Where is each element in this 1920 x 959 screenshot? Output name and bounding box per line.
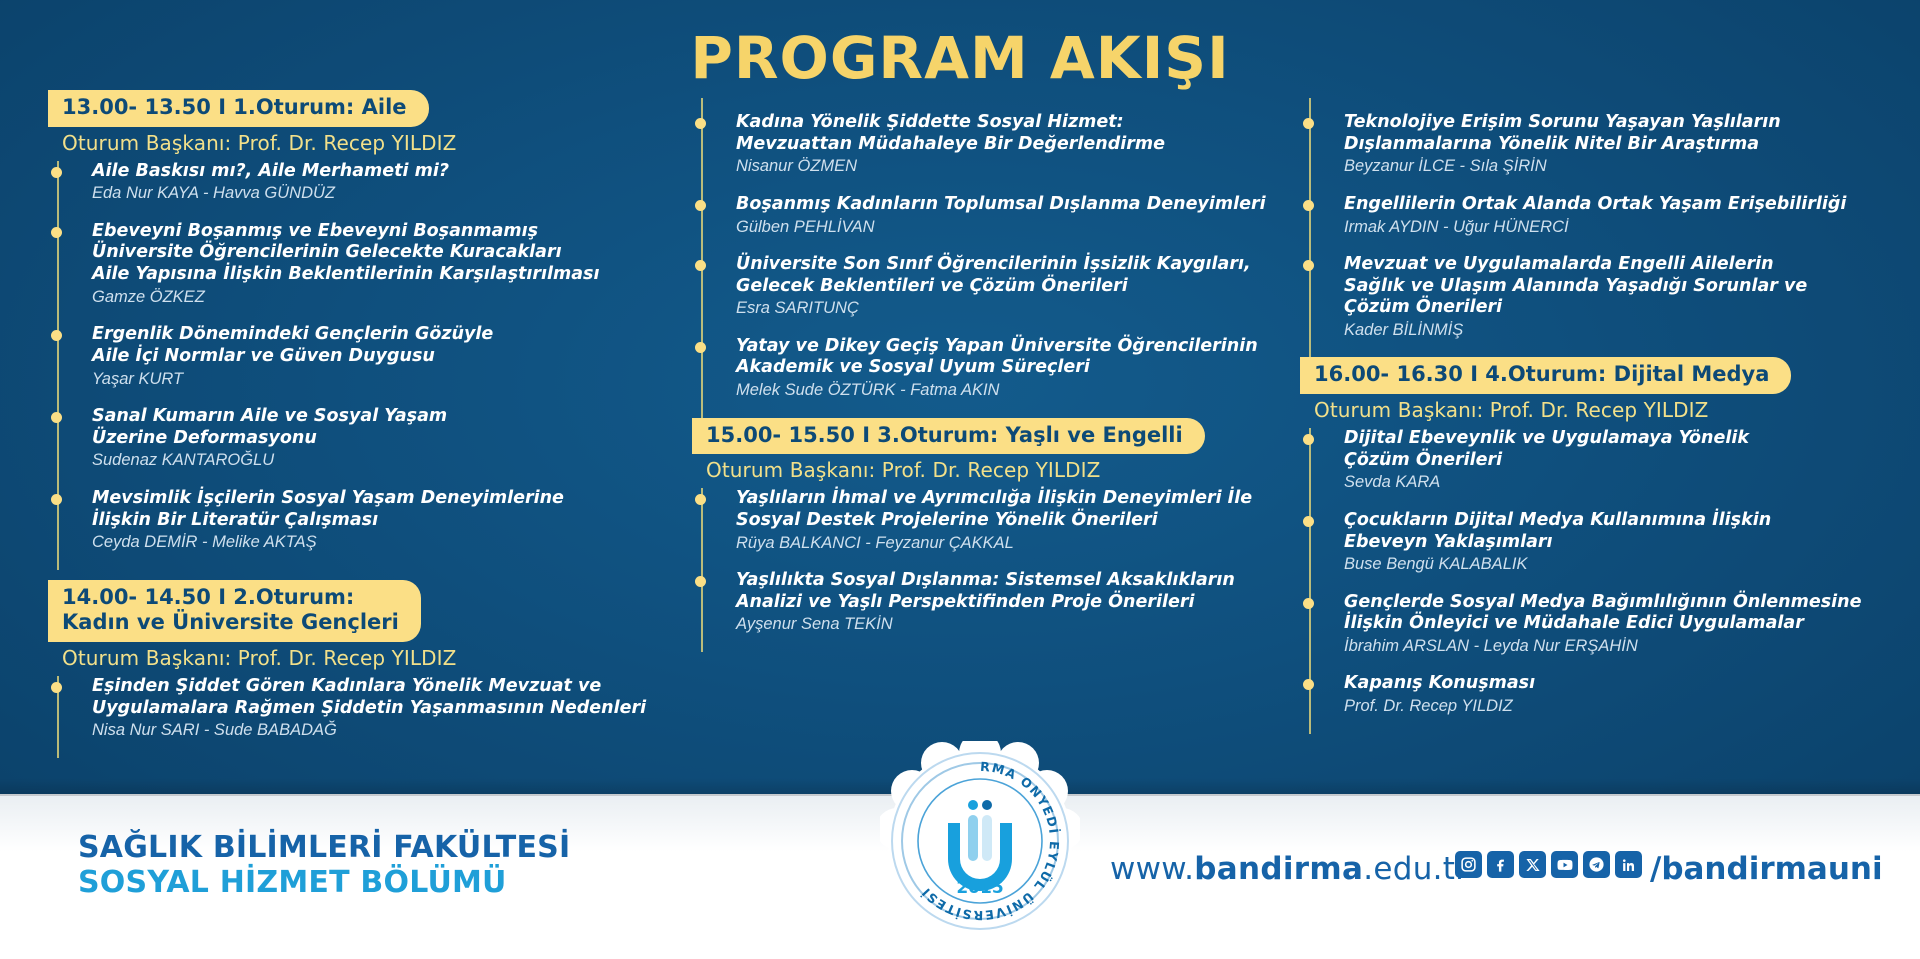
item-title: Yatay ve Dikey Geçiş Yapan Üniversite Öğ… bbox=[736, 336, 1280, 379]
session-chair: Oturum Başkanı: Prof. Dr. Recep YILDIZ bbox=[692, 454, 1280, 484]
session-block: 16.00- 16.30 I 4.Oturum: Dijital Medya O… bbox=[1300, 357, 1920, 424]
item-authors: Prof. Dr. Recep YILDIZ bbox=[1344, 696, 1920, 717]
bullet-dot-icon bbox=[1303, 260, 1314, 271]
bullet-dot-icon bbox=[1303, 118, 1314, 129]
bullet-dot-icon bbox=[695, 342, 706, 353]
item-title: Üniversite Son Sınıf Öğrencilerinin İşsi… bbox=[736, 254, 1280, 297]
item-title: Ebeveyni Boşanmış ve Ebeveyni Boşanmamış… bbox=[92, 221, 680, 286]
social-handle[interactable]: /bandirmauni bbox=[1650, 851, 1883, 887]
program-item: Aile Baskısı mı?, Aile Merhameti mi? Eda… bbox=[76, 161, 680, 221]
item-authors: Yaşar KURT bbox=[92, 369, 680, 390]
item-authors: Eda Nur KAYA - Havva GÜNDÜZ bbox=[92, 183, 680, 204]
item-authors: Gamze ÖZKEZ bbox=[92, 287, 680, 308]
spacer bbox=[48, 570, 680, 580]
bullet-dot-icon bbox=[1303, 679, 1314, 690]
item-authors: Esra SARITUNÇ bbox=[736, 298, 1280, 319]
session-chair: Oturum Başkanı: Prof. Dr. Recep YILDIZ bbox=[48, 642, 680, 672]
item-title: Yaşlıların İhmal ve Ayrımcılığa İlişkin … bbox=[736, 488, 1280, 531]
program-item: Mevzuat ve Uygulamalarda Engelli Aileler… bbox=[1328, 254, 1920, 358]
telegram-icon[interactable] bbox=[1583, 851, 1610, 878]
bullet-dot-icon bbox=[695, 576, 706, 587]
item-authors: Beyzanur İLCE - Sıla ŞİRİN bbox=[1344, 156, 1920, 177]
timeline: Yaşlıların İhmal ve Ayrımcılığa İlişkin … bbox=[692, 488, 1280, 652]
bullet-dot-icon bbox=[51, 227, 62, 238]
item-title: Eşinden Şiddet Gören Kadınlara Yönelik M… bbox=[92, 676, 680, 719]
social-links bbox=[1455, 851, 1642, 878]
item-authors: Ceyda DEMİR - Melike AKTAŞ bbox=[92, 532, 680, 553]
item-authors: Ayşenur Sena TEKİN bbox=[736, 614, 1280, 635]
website-prefix: www. bbox=[1110, 851, 1194, 887]
item-authors: İbrahim ARSLAN - Leyda Nur ERŞAHİN bbox=[1344, 636, 1920, 657]
item-authors: Sevda KARA bbox=[1344, 472, 1920, 493]
program-columns: 13.00- 13.50 I 1.Oturum: Aile Oturum Baş… bbox=[0, 90, 1920, 790]
session-pill: 13.00- 13.50 I 1.Oturum: Aile bbox=[48, 90, 429, 127]
program-item: Yatay ve Dikey Geçiş Yapan Üniversite Öğ… bbox=[720, 336, 1280, 418]
website-tld: .edu.tr bbox=[1363, 851, 1468, 887]
session-block: 15.00- 15.50 I 3.Oturum: Yaşlı ve Engell… bbox=[692, 418, 1280, 485]
item-authors: Gülben PEHLİVAN bbox=[736, 217, 1280, 238]
item-authors: Nisa Nur SARI - Sude BABADAĞ bbox=[92, 720, 680, 741]
item-title: Yaşlılıkta Sosyal Dışlanma: Sistemsel Ak… bbox=[736, 570, 1280, 613]
website-domain: bandirma bbox=[1194, 851, 1363, 887]
program-item: Üniversite Son Sınıf Öğrencilerinin İşsi… bbox=[720, 254, 1280, 336]
item-title: Ergenlik Dönemindeki Gençlerin Gözüyle A… bbox=[92, 324, 680, 367]
program-item: Eşinden Şiddet Gören Kadınlara Yönelik M… bbox=[76, 676, 680, 758]
bullet-dot-icon bbox=[695, 200, 706, 211]
logo-year: 2015 bbox=[956, 878, 1003, 898]
instagram-icon[interactable] bbox=[1455, 851, 1482, 878]
item-authors: Rüya BALKANCI - Feyzanur ÇAKKAL bbox=[736, 533, 1280, 554]
timeline: Eşinden Şiddet Gören Kadınlara Yönelik M… bbox=[48, 676, 680, 758]
item-authors: Buse Bengü KALABALIK bbox=[1344, 554, 1920, 575]
bullet-dot-icon bbox=[51, 167, 62, 178]
bullet-dot-icon bbox=[51, 412, 62, 423]
x-twitter-icon[interactable] bbox=[1519, 851, 1546, 878]
item-title: Mevsimlik İşçilerin Sosyal Yaşam Deneyim… bbox=[92, 488, 680, 531]
bullet-dot-icon bbox=[1303, 516, 1314, 527]
program-item: Engellilerin Ortak Alanda Ortak Yaşam Er… bbox=[1328, 194, 1920, 254]
spacer bbox=[1300, 90, 1920, 112]
item-title: Engellilerin Ortak Alanda Ortak Yaşam Er… bbox=[1344, 194, 1920, 216]
university-logo: BANDIRMA ONYEDİ EYLÜL ÜNİVERSİTESİ 2015 bbox=[880, 741, 1080, 941]
timeline: Teknolojiye Erişim Sorunu Yaşayan Yaşlıl… bbox=[1300, 112, 1920, 357]
item-title: Teknolojiye Erişim Sorunu Yaşayan Yaşlıl… bbox=[1344, 112, 1920, 155]
bullet-dot-icon bbox=[51, 494, 62, 505]
session-pill: 14.00- 14.50 I 2.Oturum: Kadın ve Üniver… bbox=[48, 580, 421, 642]
session-block: 14.00- 14.50 I 2.Oturum: Kadın ve Üniver… bbox=[48, 580, 680, 672]
program-column-1: 13.00- 13.50 I 1.Oturum: Aile Oturum Baş… bbox=[0, 90, 680, 790]
item-title: Gençlerde Sosyal Medya Bağımlılığının Ön… bbox=[1344, 592, 1920, 635]
program-item: Ergenlik Dönemindeki Gençlerin Gözüyle A… bbox=[76, 324, 680, 406]
item-title: Çocukların Dijital Medya Kullanımına İli… bbox=[1344, 510, 1920, 553]
bullet-dot-icon bbox=[695, 118, 706, 129]
item-authors: Melek Sude ÖZTÜRK - Fatma AKIN bbox=[736, 380, 1280, 401]
item-title: Boşanmış Kadınların Toplumsal Dışlanma D… bbox=[736, 194, 1280, 216]
session-chair: Oturum Başkanı: Prof. Dr. Recep YILDIZ bbox=[1300, 394, 1920, 424]
item-authors: Sudenaz KANTAROĞLU bbox=[92, 450, 680, 471]
item-title: Kadına Yönelik Şiddette Sosyal Hizmet: M… bbox=[736, 112, 1280, 155]
program-item: Boşanmış Kadınların Toplumsal Dışlanma D… bbox=[720, 194, 1280, 254]
timeline: Dijital Ebeveynlik ve Uygulamaya Yönelik… bbox=[1300, 428, 1920, 734]
spacer bbox=[692, 90, 1280, 112]
program-item: Dijital Ebeveynlik ve Uygulamaya Yönelik… bbox=[1328, 428, 1920, 510]
program-item: Kadına Yönelik Şiddette Sosyal Hizmet: M… bbox=[720, 112, 1280, 194]
program-column-3: Teknolojiye Erişim Sorunu Yaşayan Yaşlıl… bbox=[1280, 90, 1920, 790]
faculty-name: SAĞLIK BİLİMLERİ FAKÜLTESİ bbox=[78, 830, 570, 865]
program-item: Teknolojiye Erişim Sorunu Yaşayan Yaşlıl… bbox=[1328, 112, 1920, 194]
session-pill: 16.00- 16.30 I 4.Oturum: Dijital Medya bbox=[1300, 357, 1791, 394]
faculty-block: SAĞLIK BİLİMLERİ FAKÜLTESİ SOSYAL HİZMET… bbox=[78, 830, 570, 901]
session-block: 13.00- 13.50 I 1.Oturum: Aile Oturum Baş… bbox=[48, 90, 680, 157]
program-item: Yaşlılıkta Sosyal Dışlanma: Sistemsel Ak… bbox=[720, 570, 1280, 652]
item-title: Mevzuat ve Uygulamalarda Engelli Aileler… bbox=[1344, 254, 1920, 319]
timeline: Aile Baskısı mı?, Aile Merhameti mi? Eda… bbox=[48, 161, 680, 570]
website-url[interactable]: www.bandirma.edu.tr bbox=[1110, 851, 1468, 887]
bullet-dot-icon bbox=[695, 494, 706, 505]
department-name: SOSYAL HİZMET BÖLÜMÜ bbox=[78, 865, 570, 900]
bullet-dot-icon bbox=[1303, 598, 1314, 609]
item-title: Sanal Kumarın Aile ve Sosyal Yaşam Üzeri… bbox=[92, 406, 680, 449]
page-title: PROGRAM AKIŞI bbox=[0, 24, 1920, 92]
poster-root: PROGRAM AKIŞI 13.00- 13.50 I 1.Oturum: A… bbox=[0, 0, 1920, 959]
session-chair: Oturum Başkanı: Prof. Dr. Recep YILDIZ bbox=[48, 127, 680, 157]
program-item: Kapanış Konuşması Prof. Dr. Recep YILDIZ bbox=[1328, 673, 1920, 733]
timeline: Kadına Yönelik Şiddette Sosyal Hizmet: M… bbox=[692, 112, 1280, 418]
bullet-dot-icon bbox=[51, 330, 62, 341]
linkedin-icon[interactable] bbox=[1615, 851, 1642, 878]
program-item: Gençlerde Sosyal Medya Bağımlılığının Ön… bbox=[1328, 592, 1920, 674]
program-item: Çocukların Dijital Medya Kullanımına İli… bbox=[1328, 510, 1920, 592]
program-item: Mevsimlik İşçilerin Sosyal Yaşam Deneyim… bbox=[76, 488, 680, 570]
item-authors: Nisanur ÖZMEN bbox=[736, 156, 1280, 177]
item-title: Kapanış Konuşması bbox=[1344, 673, 1920, 695]
item-authors: Kader BİLİNMİŞ bbox=[1344, 320, 1920, 341]
bullet-dot-icon bbox=[1303, 200, 1314, 211]
facebook-icon[interactable] bbox=[1487, 851, 1514, 878]
item-title: Dijital Ebeveynlik ve Uygulamaya Yönelik… bbox=[1344, 428, 1920, 471]
program-item: Yaşlıların İhmal ve Ayrımcılığa İlişkin … bbox=[720, 488, 1280, 570]
session-pill: 15.00- 15.50 I 3.Oturum: Yaşlı ve Engell… bbox=[692, 418, 1205, 455]
item-authors: Irmak AYDIN - Uğur HÜNERCİ bbox=[1344, 217, 1920, 238]
program-column-2: Kadına Yönelik Şiddette Sosyal Hizmet: M… bbox=[680, 90, 1280, 790]
program-item: Ebeveyni Boşanmış ve Ebeveyni Boşanmamış… bbox=[76, 221, 680, 325]
item-title: Aile Baskısı mı?, Aile Merhameti mi? bbox=[92, 161, 680, 183]
bullet-dot-icon bbox=[1303, 434, 1314, 445]
program-item: Sanal Kumarın Aile ve Sosyal Yaşam Üzeri… bbox=[76, 406, 680, 488]
bullet-dot-icon bbox=[695, 260, 706, 271]
youtube-icon[interactable] bbox=[1551, 851, 1578, 878]
bullet-dot-icon bbox=[51, 682, 62, 693]
